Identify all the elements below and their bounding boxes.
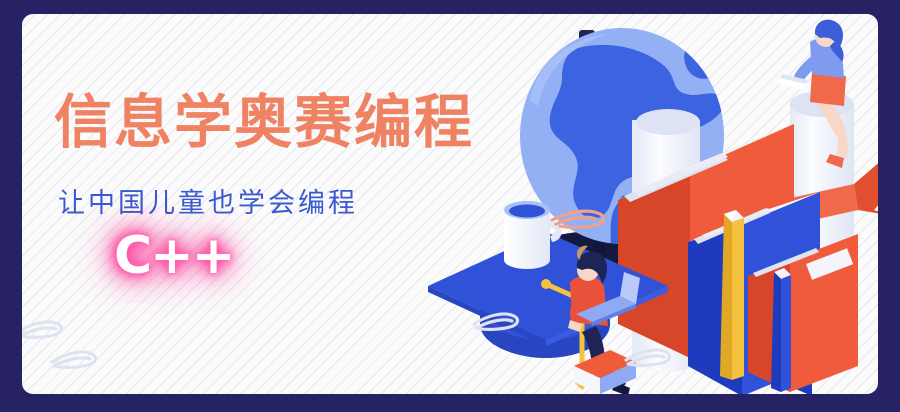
yellow-pencil: [720, 210, 744, 380]
paperclip-left-edge: [22, 322, 61, 337]
paperclip-bottom-right: [52, 352, 95, 367]
banner-card: 信息学奥赛编程 让中国儿童也学会编程 C++: [22, 14, 878, 394]
promo-banner: 信息学奥赛编程 让中国儿童也学会编程 C++: [0, 0, 900, 412]
text-block: 信息学奥赛编程 让中国儿童也学会编程: [54, 92, 554, 220]
cpp-logo: C++: [114, 226, 233, 286]
main-title: 信息学奥赛编程: [54, 92, 554, 153]
blue-pencil: [771, 268, 791, 392]
sub-title: 让中国儿童也学会编程: [58, 181, 554, 220]
